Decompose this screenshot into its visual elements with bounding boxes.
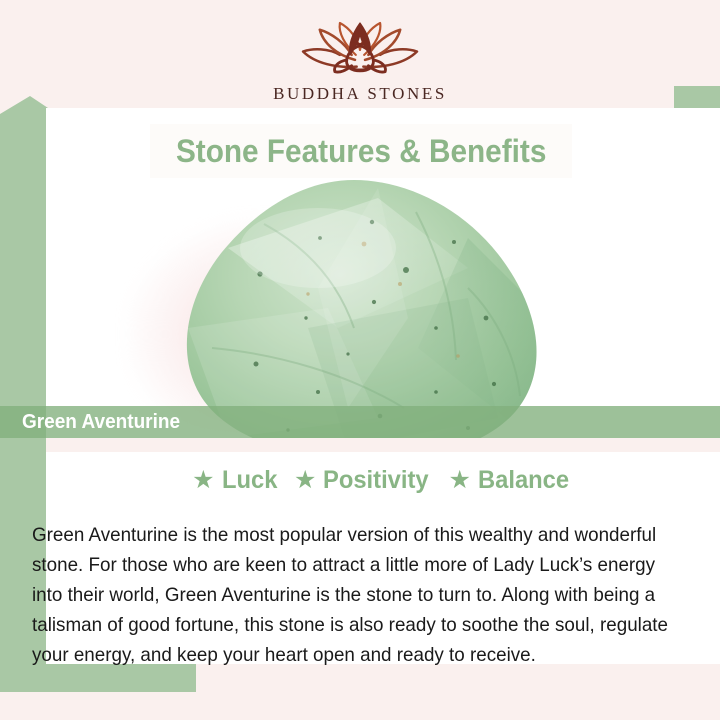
brand-name: BUDDHA STONES xyxy=(273,84,447,104)
brand-logo: BUDDHA STONES xyxy=(0,0,720,124)
star-icon: ★ xyxy=(294,468,316,493)
feature-item-balance: ★ Balance xyxy=(449,466,574,495)
product-label-band: Green Aventurine xyxy=(0,406,720,438)
label-divider xyxy=(46,438,720,452)
product-label: Green Aventurine xyxy=(22,411,180,434)
feature-label: Positivity xyxy=(323,466,429,495)
feature-label: Balance xyxy=(478,466,569,495)
lotus-meditation-icon xyxy=(276,18,444,80)
feature-list: ★ Luck ★ Positivity ★ Balance xyxy=(46,462,720,498)
feature-label: Luck xyxy=(222,466,277,495)
feature-item-positivity: ★ Positivity xyxy=(294,466,435,495)
title-banner: Stone Features & Benefits xyxy=(150,124,572,178)
description-text: Green Aventurine is the most popular ver… xyxy=(32,520,669,670)
page-title: Stone Features & Benefits xyxy=(176,133,546,170)
star-icon: ★ xyxy=(449,468,471,493)
product-image xyxy=(46,170,720,438)
star-icon: ★ xyxy=(192,468,214,493)
green-aventurine-stone-photo xyxy=(168,178,566,438)
stone-info-card: BUDDHA STONES Stone Features & Benefits xyxy=(0,0,720,720)
feature-item-luck: ★ Luck xyxy=(192,466,280,495)
